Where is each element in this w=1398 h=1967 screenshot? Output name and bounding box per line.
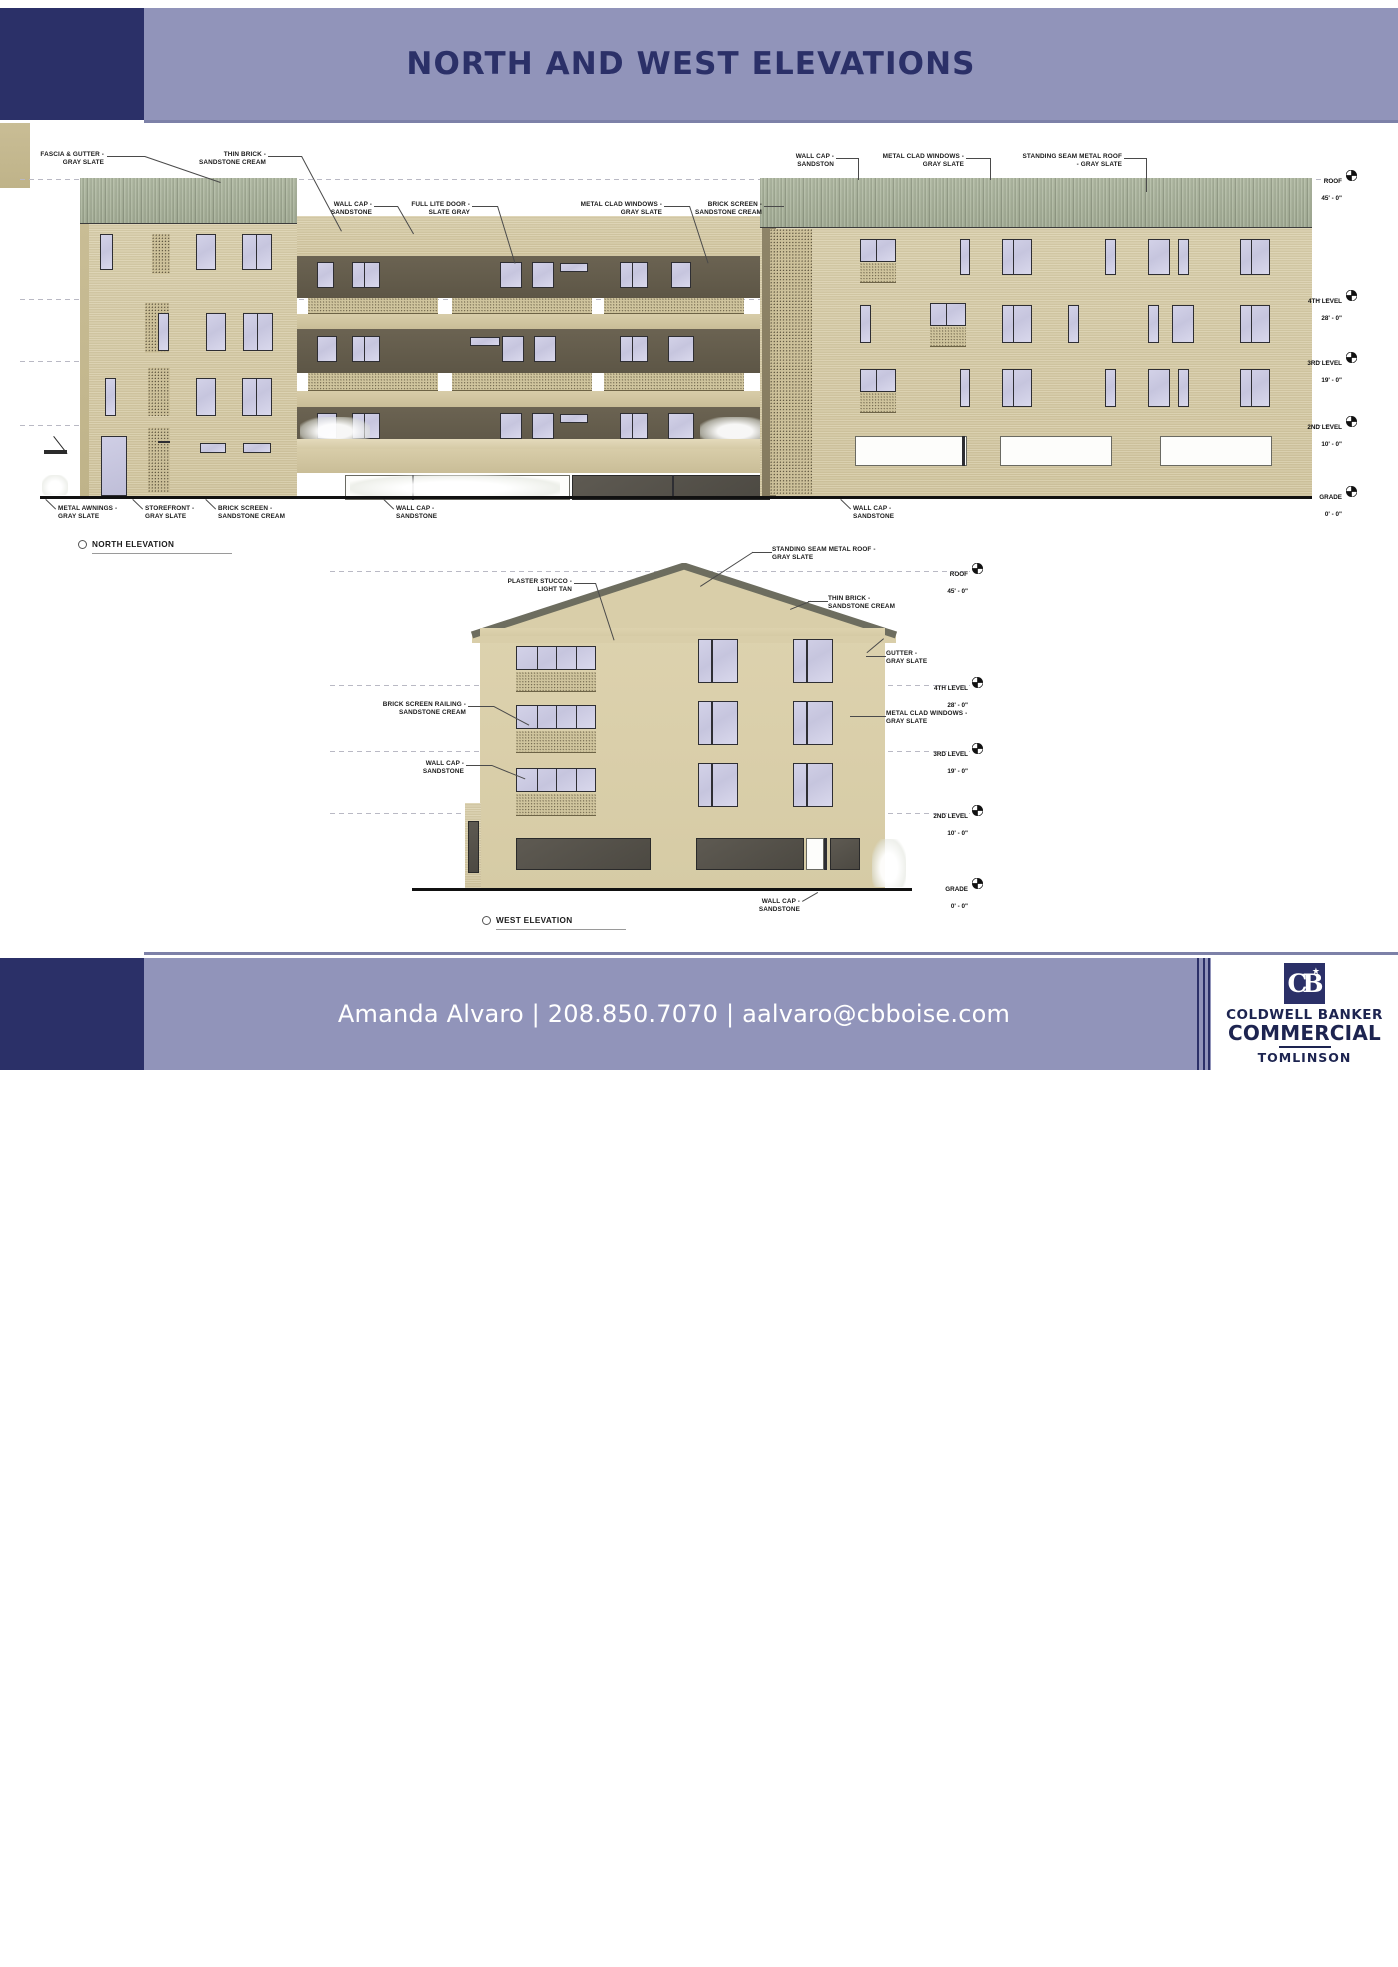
level-marker-icon [972, 743, 983, 754]
window [1240, 369, 1270, 407]
leader-line [574, 583, 596, 584]
window-mullion [576, 768, 577, 792]
north-left-wall-return [80, 224, 89, 496]
storefront-mullion [962, 436, 965, 466]
window-mullion [1013, 239, 1014, 275]
level-marker-icon [1346, 290, 1357, 301]
footer-rule [144, 952, 1398, 955]
window [620, 262, 648, 288]
north-elevation-view-title: NORTH ELEVATION [92, 540, 174, 549]
level-elevation: 28' - 0" [947, 702, 968, 709]
level-name: 2ND LEVEL [1307, 424, 1342, 431]
leader-line [472, 206, 498, 207]
window [793, 639, 833, 683]
level-name: 2ND LEVEL [933, 813, 968, 820]
brick-screen-panel [148, 368, 170, 416]
window-mullion [556, 705, 557, 729]
window [668, 336, 694, 362]
window [317, 336, 337, 362]
brick-screen-railing [452, 373, 592, 391]
annotation-wall-cap-bottom-1: WALL CAP - SANDSTONE [396, 505, 476, 522]
window-mullion [1251, 369, 1252, 407]
wall-cap-band [297, 449, 771, 473]
leader-line [808, 601, 828, 602]
star-icon: ★ [1312, 967, 1320, 976]
planting [300, 417, 370, 441]
window [352, 262, 380, 288]
level-marker-icon [972, 805, 983, 816]
level-elevation: 19' - 0" [1321, 377, 1342, 384]
level-elevation: 10' - 0" [1321, 441, 1342, 448]
leader-line [850, 716, 886, 717]
window-mullion [1013, 305, 1014, 343]
annotation-gutter-west: GUTTER - GRAY SLATE [886, 650, 956, 667]
level-elevation: 0' - 0" [1325, 511, 1342, 518]
annotation-thin-brick: THIN BRICK - SANDSTONE CREAM [168, 151, 266, 168]
leader-line [764, 206, 784, 207]
window-mullion [576, 705, 577, 729]
window [1172, 305, 1194, 343]
brick-screen-panel [148, 428, 170, 493]
window [1105, 239, 1116, 275]
window [1178, 239, 1189, 275]
window-mullion [256, 378, 257, 416]
storefront-glazing [696, 838, 804, 870]
level-elevation: 45' - 0" [947, 588, 968, 595]
view-title-rule-west [496, 929, 626, 930]
window-mullion [711, 639, 713, 683]
window [1068, 305, 1079, 343]
level-name: GRADE [1319, 494, 1342, 501]
drawing-sheet: FASCIA & GUTTER - GRAY SLATE THIN BRICK … [0, 123, 1398, 945]
brick-screen-panel [152, 234, 170, 274]
window [1148, 239, 1170, 275]
annotation-fascia-gutter: FASCIA & GUTTER - GRAY SLATE [12, 151, 104, 168]
annotation-storefront: STOREFRONT - GRAY SLATE [145, 505, 225, 522]
north-right-standing-seam-roof [760, 178, 1312, 228]
window [158, 441, 170, 443]
leader-line [836, 158, 858, 159]
window [620, 413, 648, 439]
window [1105, 369, 1116, 407]
window [860, 305, 871, 343]
window [1002, 239, 1032, 275]
brick-screen-railing [308, 373, 438, 391]
footer-divider [1197, 958, 1199, 1070]
level-elevation: 19' - 0" [947, 768, 968, 775]
annotation-metal-awnings: METAL AWNINGS - GRAY SLATE [58, 505, 143, 522]
level-tag-grade: GRADE 0' - 0" [1290, 486, 1342, 519]
window-mullion [537, 768, 538, 792]
annotation-wall-cap-west-bottom: WALL CAP - SANDSTONE [726, 898, 800, 915]
leader-line [752, 552, 772, 553]
annotation-metal-clad-windows-right: METAL CLAD WINDOWS - GRAY SLATE [860, 153, 964, 170]
level-marker-icon [1346, 352, 1357, 363]
window-mullion [364, 336, 365, 362]
window-mullion [806, 763, 808, 807]
annotation-wall-cap-right: WALL CAP - SANDSTON [760, 153, 834, 170]
level-name: ROOF [1324, 178, 1342, 185]
balcony-slab [297, 314, 771, 329]
storefront-glazing [516, 838, 651, 870]
level-tag-roof-west: ROOF 45' - 0" [920, 563, 968, 596]
annotation-thin-brick-west: THIN BRICK - SANDSTONE CREAM [828, 595, 920, 612]
grade-line [40, 496, 1312, 499]
footer-accent-block [0, 958, 144, 1070]
window [560, 414, 588, 423]
window [200, 443, 226, 453]
window [470, 337, 500, 346]
logo-line-commercial: COMMERCIAL [1228, 1023, 1381, 1044]
window [698, 701, 738, 745]
window-mullion [1251, 239, 1252, 275]
brick-screen-railing [860, 393, 896, 413]
annotation-wall-cap-west: WALL CAP - SANDSTONE [390, 760, 464, 777]
window-mullion [876, 369, 877, 392]
window-mullion [556, 646, 557, 670]
annotation-brick-screen-bottom: BRICK SCREEN - SANDSTONE CREAM [218, 505, 318, 522]
leader-line [107, 156, 145, 157]
level-elevation: 28' - 0" [1321, 315, 1342, 322]
leader-line [990, 158, 991, 180]
level-tag-2nd: 2ND LEVEL 10' - 0" [1290, 416, 1342, 449]
leader-line [858, 158, 859, 180]
shrub [42, 475, 68, 495]
annotation-metal-clad-windows: METAL CLAD WINDOWS - GRAY SLATE [558, 201, 662, 218]
level-tag-4th-west: 4TH LEVEL 28' - 0" [920, 677, 968, 710]
window [860, 239, 896, 262]
brick-screen-railing [452, 298, 592, 314]
window-mullion [257, 313, 258, 351]
grade-line-west [412, 888, 912, 891]
window [698, 639, 738, 683]
storefront-glazing [830, 838, 860, 870]
window [960, 369, 970, 407]
window-mullion [711, 701, 713, 745]
window-mullion [946, 303, 947, 326]
view-tag-circle [78, 540, 87, 549]
window-mullion [537, 646, 538, 670]
brick-screen-railing [604, 373, 744, 391]
leader-line [268, 156, 302, 157]
annotation-wall-cap-bottom-2: WALL CAP - SANDSTONE [853, 505, 933, 522]
window [196, 378, 216, 416]
view-tag-circle-west [482, 916, 491, 925]
window-mullion [256, 234, 257, 270]
window [352, 336, 380, 362]
level-name: 3RD LEVEL [1307, 360, 1342, 367]
planting [350, 475, 560, 497]
brick-screen-railing [516, 731, 596, 753]
annotation-metal-clad-windows-west: METAL CLAD WINDOWS - GRAY SLATE [886, 710, 982, 727]
annotation-plaster-stucco: PLASTER STUCCO - LIGHT TAN [490, 578, 572, 595]
leader-line [866, 656, 886, 657]
leader-line [966, 158, 990, 159]
storefront-door [101, 436, 127, 496]
logo-line-tomlinson: TOMLINSON [1258, 1050, 1352, 1065]
window-mullion [806, 701, 808, 745]
window [620, 336, 648, 362]
planting [872, 839, 906, 887]
window-mullion [537, 705, 538, 729]
window [1240, 305, 1270, 343]
window-mullion [876, 239, 877, 262]
window [1240, 239, 1270, 275]
window [105, 378, 116, 416]
brick-screen-railing [930, 327, 966, 347]
storefront-glazing [1160, 436, 1272, 466]
west-elevation-view-title: WEST ELEVATION [496, 916, 572, 925]
window [793, 701, 833, 745]
level-marker-icon [1346, 486, 1357, 497]
coldwell-banker-logo: INTERMOUNTAIN CB ★ COLDWELL BANKER COMME… [1211, 958, 1398, 1070]
balcony-slab [297, 391, 771, 407]
annotation-standing-seam-roof-west: STANDING SEAM METAL ROOF - GRAY SLATE [772, 546, 892, 563]
window [534, 336, 556, 362]
window [698, 763, 738, 807]
level-name: GRADE [945, 886, 968, 893]
window-mullion [632, 413, 633, 439]
footer-divider [1208, 958, 1210, 1070]
level-name: 4TH LEVEL [934, 685, 968, 692]
window-mullion [632, 336, 633, 362]
window [158, 313, 169, 351]
leader-line [384, 499, 394, 509]
brick-screen-railing [308, 298, 438, 314]
window-mullion [1013, 369, 1014, 407]
west-wall-top [480, 628, 885, 636]
window-mullion [632, 262, 633, 288]
logo-divider [1279, 1046, 1331, 1047]
leader-line [802, 892, 818, 901]
footer-contact-info: Amanda Alvaro | 208.850.7070 | aalvaro@c… [144, 958, 1204, 1070]
level-tag-3rd: 3RD LEVEL 19' - 0" [1290, 352, 1342, 385]
brick-screen-railing [516, 672, 596, 692]
header-accent-block [0, 8, 144, 120]
window [196, 234, 216, 270]
window [1148, 305, 1159, 343]
level-elevation: 0' - 0" [951, 903, 968, 910]
brick-screen-railing [860, 263, 896, 283]
window [668, 413, 694, 439]
window [500, 262, 522, 288]
annotation-wall-cap: WALL CAP - SANDSTONE [300, 201, 372, 218]
annotation-brick-screen-railing-west: BRICK SCREEN RAILING - SANDSTONE CREAM [370, 701, 466, 718]
window [502, 336, 524, 362]
level-tag-2nd-west: 2ND LEVEL 10' - 0" [920, 805, 968, 838]
storefront-mullion [824, 838, 827, 870]
brick-screen-panel-tall [770, 229, 812, 495]
leader-line [841, 499, 851, 509]
window [860, 369, 896, 392]
window [206, 313, 226, 351]
window [500, 413, 522, 439]
leader-line [1146, 158, 1147, 192]
window [1002, 305, 1032, 343]
level-name: 3RD LEVEL [933, 751, 968, 758]
north-left-standing-seam-roof [80, 178, 297, 224]
level-elevation: 45' - 0" [1321, 195, 1342, 202]
window [560, 263, 588, 272]
balcony-slab [297, 439, 771, 449]
leader-line [1124, 158, 1146, 159]
page-title: NORTH AND WEST ELEVATIONS [144, 8, 1398, 120]
window-mullion [364, 262, 365, 288]
window [1002, 369, 1032, 407]
level-marker-icon [972, 563, 983, 574]
window [468, 821, 479, 873]
level-tag-grade-west: GRADE 0' - 0" [920, 878, 968, 911]
window [532, 413, 554, 439]
window-mullion [556, 768, 557, 792]
window-mullion [711, 763, 713, 807]
level-marker-icon [1346, 416, 1357, 427]
level-tag-3rd-west: 3RD LEVEL 19' - 0" [920, 743, 968, 776]
window [1148, 369, 1170, 407]
window [100, 234, 113, 270]
level-marker-icon [1346, 170, 1357, 181]
annotation-standing-seam-roof: STANDING SEAM METAL ROOF - GRAY SLATE [1000, 153, 1122, 170]
level-name: ROOF [950, 571, 968, 578]
window [671, 262, 691, 288]
leader-line [468, 706, 494, 707]
window [243, 443, 271, 453]
leader-line [466, 765, 492, 766]
storefront-glazing [855, 436, 967, 466]
window [317, 262, 334, 288]
window-mullion [1251, 305, 1252, 343]
storefront-glazing [806, 838, 824, 870]
level-tag-4th: 4TH LEVEL 28' - 0" [1290, 290, 1342, 323]
brick-screen-railing [604, 298, 744, 314]
window-mullion [576, 646, 577, 670]
window [1178, 369, 1189, 407]
window [960, 239, 970, 275]
cb-monogram-icon: CB ★ [1284, 963, 1325, 1004]
level-marker-icon [972, 677, 983, 688]
window [532, 262, 554, 288]
storefront-glazing [1000, 436, 1112, 466]
view-title-rule [92, 553, 232, 554]
window-mullion [806, 639, 808, 683]
level-marker-icon [972, 878, 983, 889]
level-elevation: 10' - 0" [947, 830, 968, 837]
window [793, 763, 833, 807]
window [930, 303, 966, 326]
brick-screen-railing [516, 794, 596, 816]
leader-line [46, 499, 56, 509]
annotation-brick-screen: BRICK SCREEN - SANDSTONE CREAM [672, 201, 762, 218]
level-name: 4TH LEVEL [1308, 298, 1342, 305]
footer-divider [1203, 958, 1205, 1070]
level-tag-roof: ROOF 45' - 0" [1290, 170, 1342, 203]
annotation-full-lite-door: FULL LITE DOOR - SLATE GRAY [390, 201, 470, 218]
